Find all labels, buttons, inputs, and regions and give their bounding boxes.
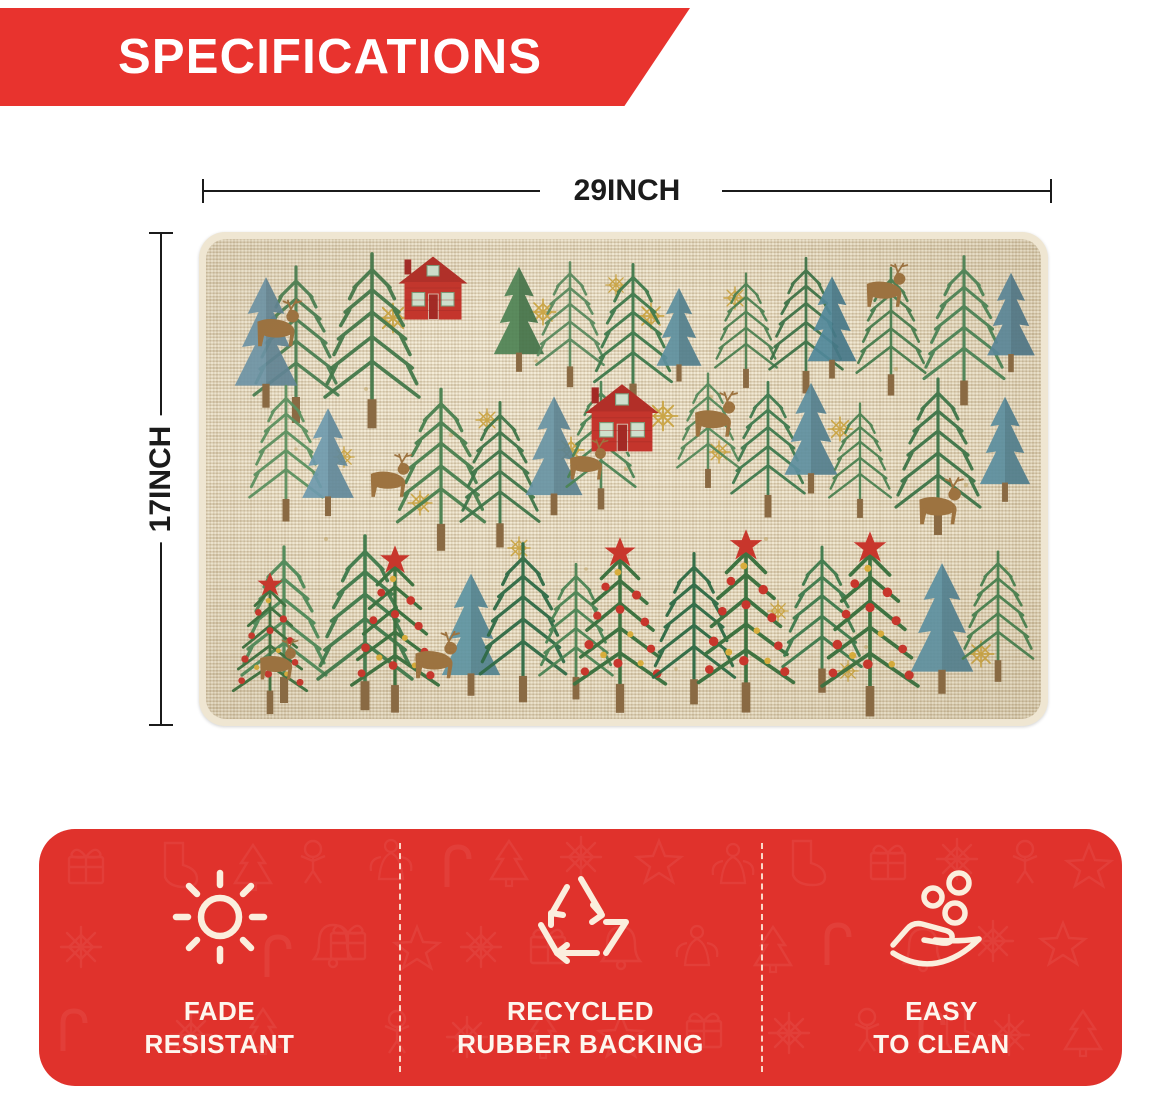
feature-fade-resistant: FADE RESISTANT <box>39 829 400 1086</box>
features-panel: FADE RESISTANT RECYCLED RUBBER BACKING <box>39 829 1122 1086</box>
recycle-icon <box>527 861 635 973</box>
mat-surface <box>206 239 1041 719</box>
feature-label-easy-to-clean: EASY TO CLEAN <box>873 995 1009 1059</box>
height-label: 17INCH <box>144 416 178 543</box>
banner-title: SPECIFICATIONS <box>118 29 542 85</box>
feature-label-recycled-rubber-backing: RECYCLED RUBBER BACKING <box>457 995 704 1059</box>
height-line-bottom <box>160 536 162 726</box>
feature-recycled-rubber-backing: RECYCLED RUBBER BACKING <box>400 829 761 1086</box>
height-dimension: 17INCH <box>160 232 162 726</box>
width-line-right <box>722 190 1052 192</box>
product-image-mat <box>199 232 1048 726</box>
height-line-top <box>160 232 162 425</box>
feature-divider-2 <box>761 843 763 1072</box>
feature-divider-1 <box>399 843 401 1072</box>
hand-bubbles-icon <box>883 861 1001 973</box>
width-dimension: 29INCH <box>202 190 1052 192</box>
sun-icon <box>168 861 272 973</box>
width-label: 29INCH <box>562 174 693 208</box>
feature-easy-to-clean: EASY TO CLEAN <box>761 829 1122 1086</box>
feature-label-fade-resistant: FADE RESISTANT <box>145 995 295 1059</box>
width-line-left <box>202 190 540 192</box>
christmas-forest-artwork <box>206 239 1041 719</box>
specifications-banner: SPECIFICATIONS <box>0 8 690 106</box>
